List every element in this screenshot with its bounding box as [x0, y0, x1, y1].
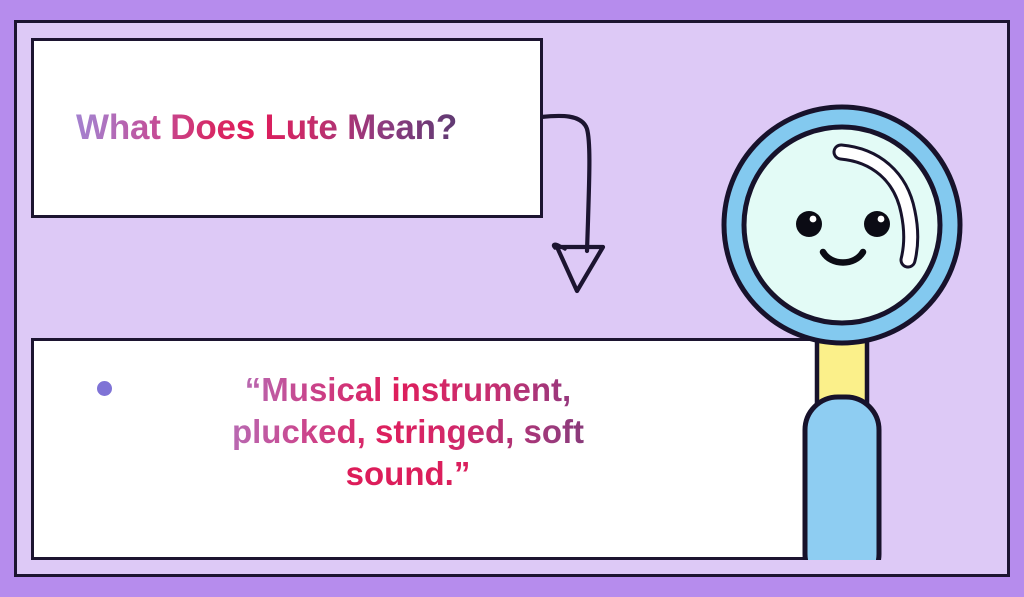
bullet-line-1: “Musical instrument,	[132, 369, 684, 411]
bullet-line-2: plucked, stringed, soft	[132, 411, 684, 453]
bullet-dot-icon	[97, 381, 112, 396]
page-title: What Does Lute Mean?	[34, 108, 457, 148]
content-card: “Musical instrument, plucked, stringed, …	[31, 338, 837, 560]
bullet-line-3: sound.”	[132, 453, 684, 495]
title-card: What Does Lute Mean?	[31, 38, 543, 218]
list-item	[34, 546, 834, 560]
bullet-text: “Musical instrument, plucked, stringed, …	[112, 369, 834, 496]
list-item: “Musical instrument, plucked, stringed, …	[34, 369, 834, 496]
bullet-dot-icon	[97, 558, 112, 560]
slide-canvas: What Does Lute Mean? “Musical instrument…	[0, 0, 1024, 597]
